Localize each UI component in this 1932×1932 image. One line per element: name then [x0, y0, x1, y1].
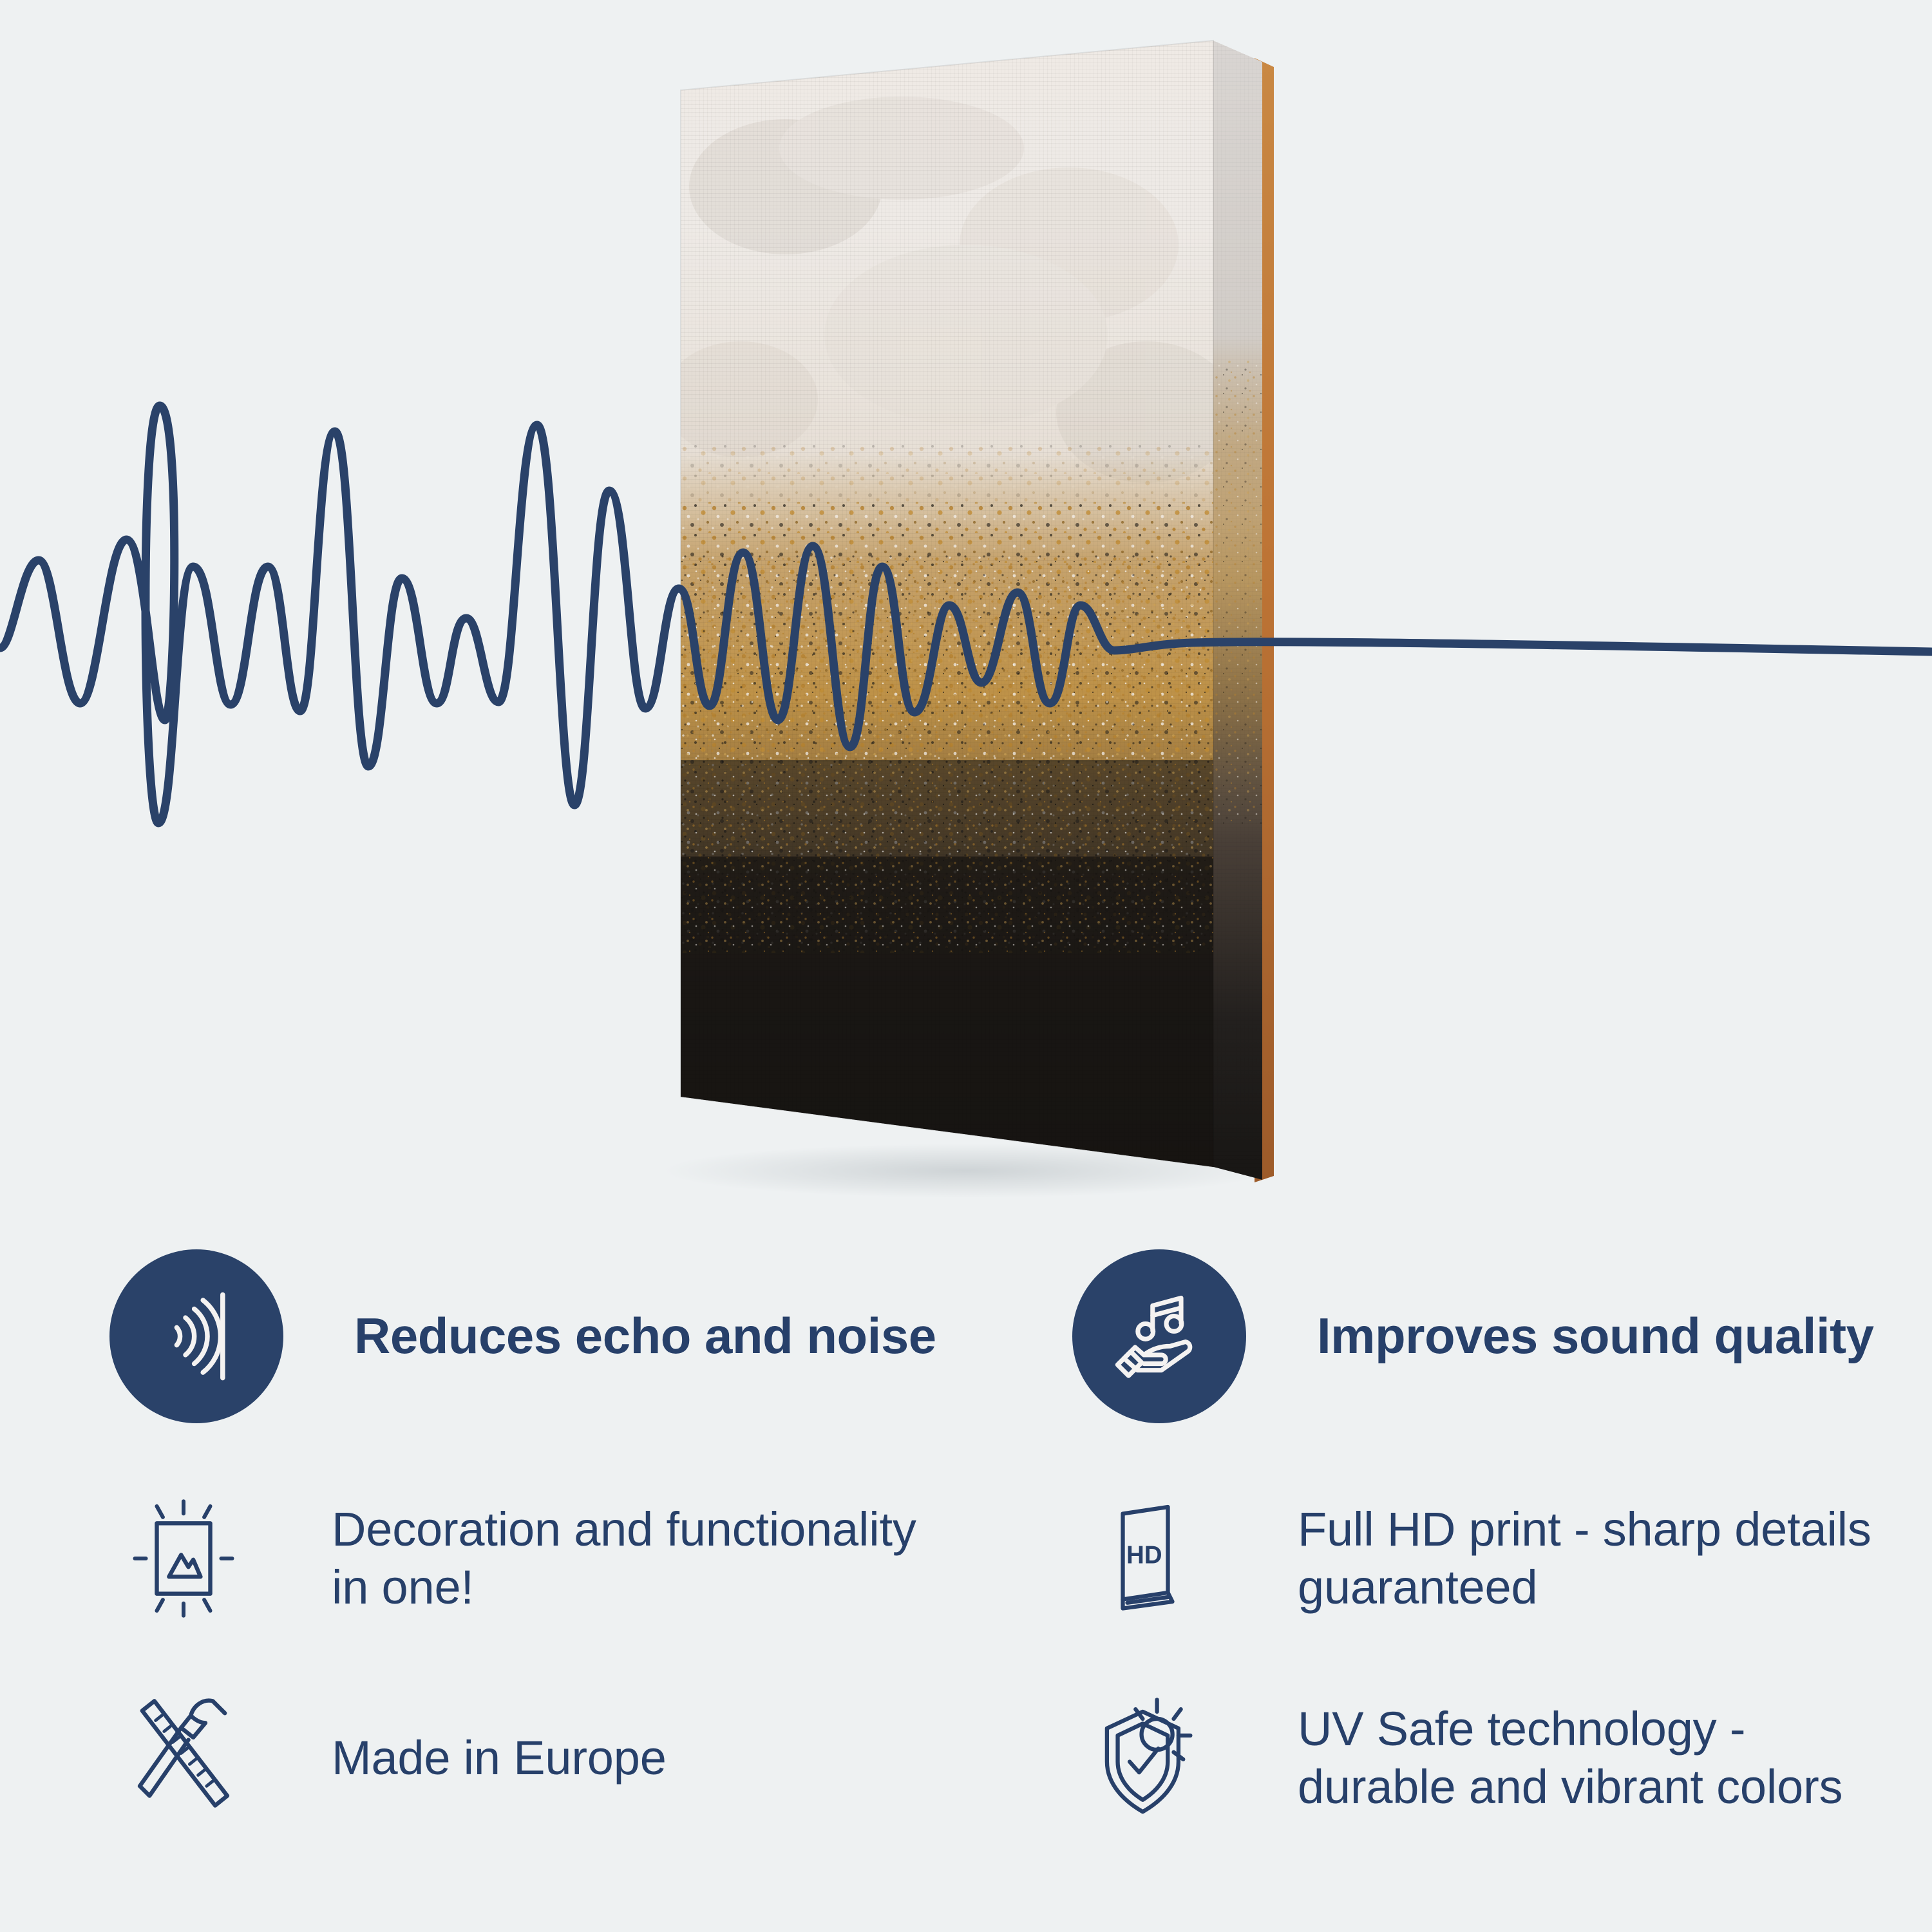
framed-picture-shine-icon: [122, 1494, 245, 1623]
feature-label-line2: guaranteed: [1298, 1558, 1871, 1616]
ruler-and-hammer-icon: [122, 1694, 245, 1823]
feature-label: Decoration and functionality in one!: [332, 1501, 916, 1617]
hd-canvas-print-icon: HD: [1088, 1494, 1211, 1623]
hd-badge-text: HD: [1126, 1541, 1162, 1569]
feature-list: Reduces echo and noise: [0, 1224, 1932, 1932]
feature-label-line2: durable and vibrant colors: [1298, 1758, 1842, 1816]
feature-label: Made in Europe: [332, 1729, 667, 1787]
feature-label-line1: UV Safe technology -: [1298, 1700, 1842, 1758]
feature-uv-safe[interactable]: UV Safe technology - durable and vibrant…: [1088, 1694, 1842, 1823]
feature-label: UV Safe technology - durable and vibrant…: [1298, 1700, 1842, 1817]
feature-icon-wrap: [1072, 1249, 1246, 1423]
infographic-root: Reduces echo and noise: [0, 0, 1932, 1932]
feature-reduces-echo[interactable]: Reduces echo and noise: [109, 1249, 936, 1423]
feature-improves-sound[interactable]: Improves sound quality: [1072, 1249, 1873, 1423]
hand-holding-music-note-icon: [1072, 1249, 1246, 1423]
feature-label-line1: Decoration and functionality: [332, 1501, 916, 1558]
feature-label: Improves sound quality: [1317, 1308, 1873, 1364]
feature-decoration-functionality[interactable]: Decoration and functionality in one!: [122, 1494, 916, 1623]
sound-waves-absorption-icon: [109, 1249, 283, 1423]
feature-full-hd-print[interactable]: HD Full HD print - sharp details guarant…: [1088, 1494, 1871, 1623]
feature-label-line1: Made in Europe: [332, 1729, 667, 1787]
hero-section: [0, 0, 1932, 1224]
shield-check-sun-icon: [1088, 1694, 1211, 1823]
waveform-path: [0, 406, 1931, 823]
feature-label-line1: Full HD print - sharp details: [1298, 1501, 1871, 1558]
feature-label-line2: in one!: [332, 1558, 916, 1616]
feature-label: Full HD print - sharp details guaranteed: [1298, 1501, 1871, 1617]
feature-icon-wrap: [109, 1249, 283, 1423]
feature-made-in-europe[interactable]: Made in Europe: [122, 1694, 667, 1823]
sound-waveform: [0, 0, 1932, 1224]
feature-label: Reduces echo and noise: [354, 1308, 936, 1364]
